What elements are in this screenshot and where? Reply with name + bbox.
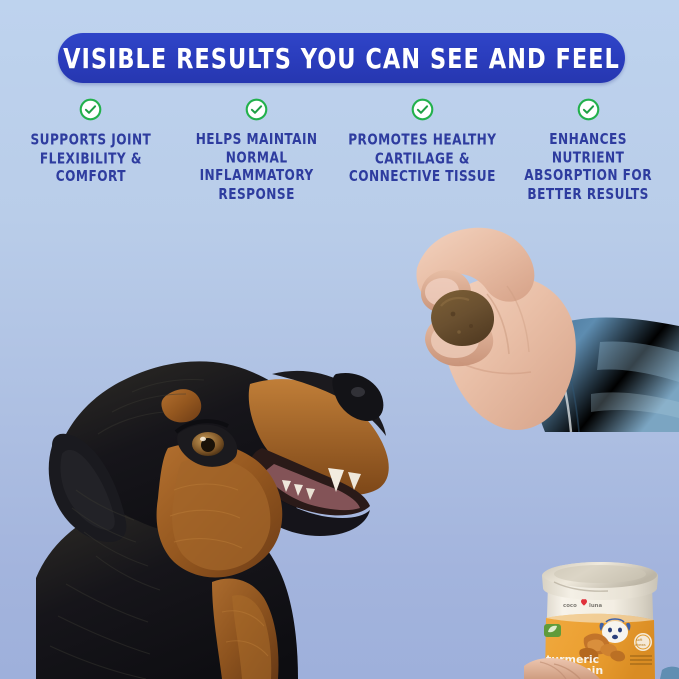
product-photo-scene: coco luna bbox=[0, 0, 679, 679]
supplement-jar[interactable]: coco luna bbox=[524, 560, 679, 679]
rottweiler-dog bbox=[36, 330, 436, 679]
nostril bbox=[351, 387, 365, 397]
eye-glint bbox=[200, 437, 206, 441]
label-side-detail bbox=[630, 655, 652, 665]
brand-name-right: luna bbox=[589, 603, 603, 609]
lid-inner-ring bbox=[554, 565, 646, 583]
infographic-canvas: VISIBLE RESULTS YOU CAN SEE AND FEEL SUP… bbox=[0, 0, 679, 679]
brand-name-left: coco bbox=[563, 603, 577, 609]
soft-chews-seal: soft chews bbox=[634, 633, 652, 651]
leaf-badge-icon bbox=[544, 624, 561, 637]
soft-chew-treat bbox=[431, 290, 494, 346]
seal-text-line2: chews bbox=[635, 643, 646, 647]
denim-sliver bbox=[660, 667, 679, 679]
hand-holding-chew bbox=[395, 222, 679, 432]
seal-text-line1: soft bbox=[636, 638, 643, 642]
